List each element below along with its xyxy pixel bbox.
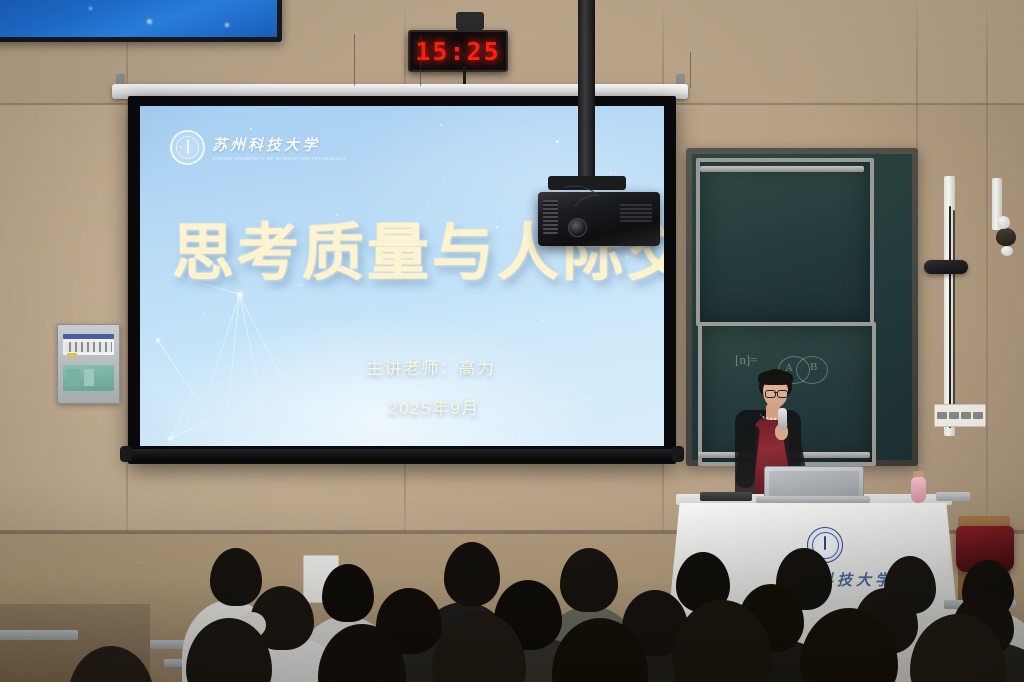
- podium-control-panel[interactable]: [700, 492, 752, 501]
- screen-bar-knob: [120, 446, 132, 462]
- desk: [0, 630, 78, 640]
- wall-power-outlet[interactable]: [934, 404, 986, 427]
- university-name-en: SUZHOU UNIVERSITY OF SCIENCE AND TECHNOL…: [212, 156, 346, 161]
- slide-date: 2025年9月: [388, 394, 480, 419]
- chalk-label-b: B: [810, 361, 817, 373]
- cable-bundle: [953, 210, 955, 420]
- presenter-glasses-right: [777, 390, 788, 398]
- electrical-distribution-panel[interactable]: [57, 324, 120, 404]
- cable-bundle: [949, 206, 951, 428]
- digital-clock: 15:25: [408, 30, 508, 72]
- blackboard-rail: [700, 166, 864, 172]
- screen-bar-knob: [672, 446, 684, 462]
- camera-lens-icon: [1001, 246, 1013, 256]
- presenter-glasses-bridge: [774, 392, 777, 393]
- chalk-expression: [n]=: [735, 352, 758, 368]
- lecture-hall-photo: 15:25: [0, 0, 1024, 682]
- slide-university-logo: 苏州科技大学 SUZHOU UNIVERSITY OF SCIENCE AND …: [170, 130, 346, 165]
- audience-head: [210, 548, 262, 606]
- clock-mount-bracket: [456, 12, 484, 30]
- pink-water-bottle[interactable]: [911, 477, 926, 503]
- ceiling-wire: [420, 34, 421, 86]
- laptop-base: [756, 496, 870, 503]
- ceiling-camera: [996, 228, 1016, 246]
- desk-item: [936, 492, 970, 501]
- screen-bottom-bar: [124, 449, 680, 458]
- camera-dome-icon: [997, 216, 1010, 229]
- audience-head: [322, 564, 374, 622]
- ceiling-wire: [690, 52, 691, 88]
- ceiling-wire: [354, 34, 355, 86]
- blackboard-panel-upper: [696, 158, 874, 326]
- university-name-cn: 苏州科技大学: [212, 134, 346, 155]
- slide-presenter: 主讲老师：高为: [366, 354, 496, 379]
- wall-joint: [986, 0, 988, 540]
- university-seal-icon: [170, 130, 205, 165]
- laptop-screen: [769, 471, 859, 497]
- handheld-microphone[interactable]: [778, 408, 787, 430]
- clock-time: 15:25: [415, 37, 500, 66]
- presenter-hair-top: [758, 370, 793, 385]
- projector-mount-pole: [578, 0, 595, 186]
- wall-speaker: [924, 260, 968, 274]
- wall-monitor[interactable]: [0, 0, 282, 42]
